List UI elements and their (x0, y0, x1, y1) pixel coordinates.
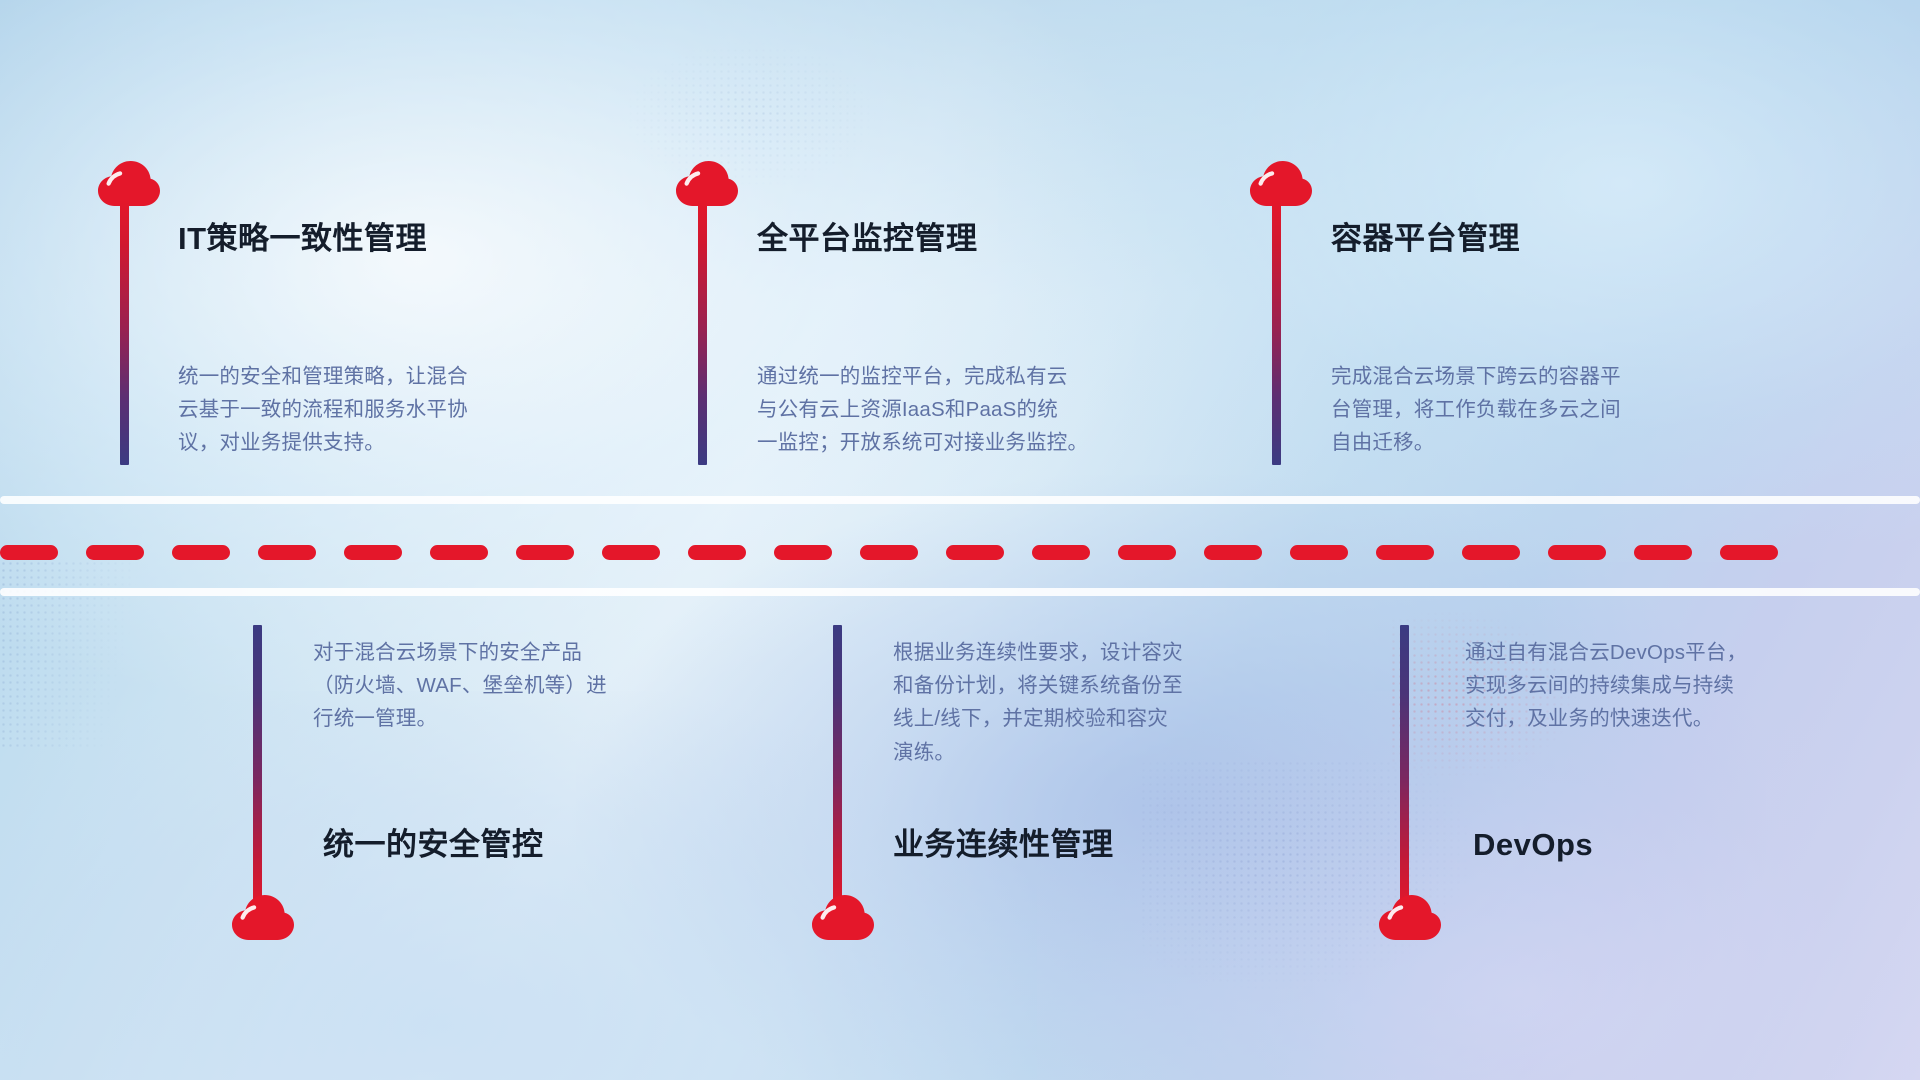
card-heading: 全平台监控管理 (757, 220, 978, 257)
card-heading: 容器平台管理 (1331, 220, 1520, 257)
divider-dash (774, 545, 832, 560)
connector-stem (698, 200, 707, 465)
divider-dash (1290, 545, 1348, 560)
divider-dash (1634, 545, 1692, 560)
connector-stem (1272, 200, 1281, 465)
cloud-icon (676, 161, 738, 207)
divider-dash (430, 545, 488, 560)
connector-stem (253, 625, 262, 910)
cloud-icon (1250, 161, 1312, 207)
divider-line-lower (0, 588, 1920, 596)
cloud-icon (812, 895, 874, 941)
divider-dash (1720, 545, 1778, 560)
divider-dash (172, 545, 230, 560)
card-body: 通过统一的监控平台，完成私有云 与公有云上资源IaaS和PaaS的统 一监控；开… (757, 360, 1197, 460)
connector-stem (120, 200, 129, 465)
divider-dash (0, 545, 58, 560)
cloud-icon (98, 161, 160, 207)
divider-dash (1118, 545, 1176, 560)
divider-dash (1204, 545, 1262, 560)
card-body: 完成混合云场景下跨云的容器平 台管理，将工作负载在多云之间 自由迁移。 (1331, 360, 1761, 460)
divider-dash (688, 545, 746, 560)
connector-stem (833, 625, 842, 910)
divider-dash (1548, 545, 1606, 560)
divider-dash (860, 545, 918, 560)
divider-dash (946, 545, 1004, 560)
card-body: 根据业务连续性要求，设计容灾 和备份计划，将关键系统备份至 线上/线下，并定期校… (893, 636, 1323, 769)
cloud-icon (232, 895, 294, 941)
divider-dash (258, 545, 316, 560)
divider-dash (1376, 545, 1434, 560)
cloud-icon (1379, 895, 1441, 941)
connector-stem (1400, 625, 1409, 910)
divider-dash (602, 545, 660, 560)
divider-dash (86, 545, 144, 560)
divider-dash (516, 545, 574, 560)
card-body: 通过自有混合云DevOps平台， 实现多云间的持续集成与持续 交付，及业务的快速… (1465, 636, 1885, 736)
divider-line-upper (0, 496, 1920, 504)
card-heading: 统一的安全管控 (323, 826, 544, 863)
card-heading: IT策略一致性管理 (178, 220, 427, 257)
card-heading: DevOps (1473, 826, 1593, 863)
card-heading: 业务连续性管理 (893, 826, 1114, 863)
divider-dash (344, 545, 402, 560)
card-body: 对于混合云场景下的安全产品 （防火墙、WAF、堡垒机等）进 行统一管理。 (313, 636, 733, 736)
divider-dash (1032, 545, 1090, 560)
dashed-divider (0, 545, 1920, 560)
divider-dash (1462, 545, 1520, 560)
card-body: 统一的安全和管理策略，让混合 云基于一致的流程和服务水平协 议，对业务提供支持。 (178, 360, 598, 460)
